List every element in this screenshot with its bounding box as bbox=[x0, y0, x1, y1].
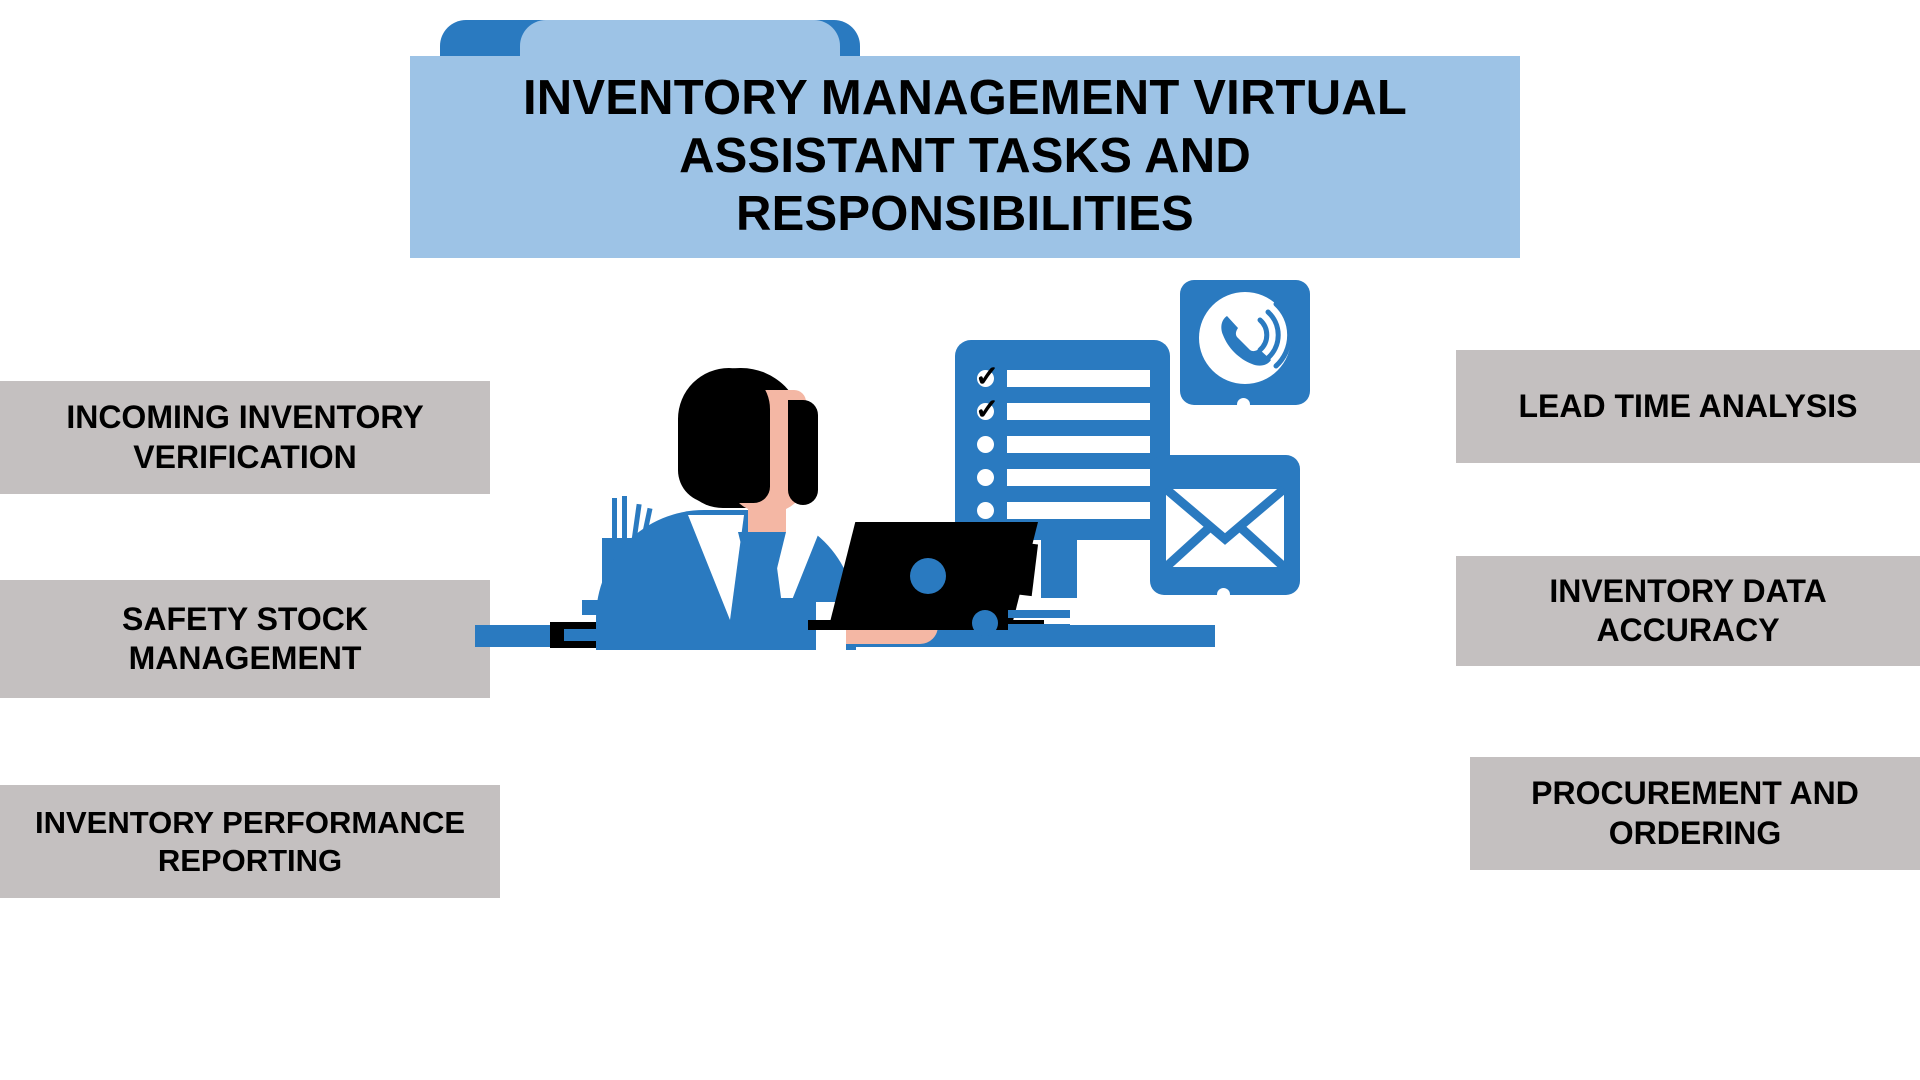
hair-side bbox=[788, 400, 818, 505]
label-inventory-data-accuracy[interactable]: INVENTORY DATA ACCURACY bbox=[1456, 556, 1920, 666]
document-avatar-dot-icon bbox=[972, 610, 998, 636]
envelope-icon bbox=[1150, 455, 1300, 595]
checklist-line bbox=[1007, 370, 1150, 387]
document-line bbox=[1008, 638, 1070, 646]
desk-item-black bbox=[994, 540, 1038, 596]
checklist-line bbox=[1007, 469, 1150, 486]
checklist-bullet-icon bbox=[977, 436, 994, 453]
checklist-line bbox=[1007, 436, 1150, 453]
desk-item-blue bbox=[1041, 532, 1077, 598]
document-line bbox=[1008, 610, 1070, 618]
card-pin-icon bbox=[1217, 588, 1230, 601]
blazer-lapel-left bbox=[688, 515, 744, 620]
label-procurement-and-ordering[interactable]: PROCUREMENT AND ORDERING bbox=[1470, 757, 1920, 870]
card-pin-icon bbox=[1237, 398, 1250, 411]
laptop-logo-dot-icon bbox=[910, 558, 946, 594]
checklist-bullet-icon bbox=[977, 469, 994, 486]
title-banner-body: INVENTORY MANAGEMENT VIRTUAL ASSISTANT T… bbox=[410, 56, 1520, 258]
pen-icon bbox=[612, 498, 617, 542]
mail-card-icon bbox=[1150, 455, 1300, 595]
label-lead-time-analysis[interactable]: LEAD TIME ANALYSIS bbox=[1456, 350, 1920, 463]
phone-card-icon bbox=[1180, 280, 1310, 405]
label-inventory-performance-reporting[interactable]: INVENTORY PERFORMANCE REPORTING bbox=[0, 785, 500, 898]
check-mark-icon: ✓ bbox=[975, 396, 999, 425]
infographic-canvas: INVENTORY MANAGEMENT VIRTUAL ASSISTANT T… bbox=[0, 0, 1920, 1080]
checklist-line bbox=[1007, 403, 1150, 420]
title-banner: INVENTORY MANAGEMENT VIRTUAL ASSISTANT T… bbox=[410, 20, 1520, 250]
document-line bbox=[1008, 624, 1070, 632]
pen-icon bbox=[622, 496, 627, 542]
check-mark-icon: ✓ bbox=[975, 363, 999, 392]
label-incoming-inventory-verification[interactable]: INCOMING INVENTORY VERIFICATION bbox=[0, 381, 490, 494]
checklist-card-icon: ✓ ✓ bbox=[955, 340, 1170, 540]
label-safety-stock-management[interactable]: SAFETY STOCK MANAGEMENT bbox=[0, 580, 490, 698]
checklist-line bbox=[1007, 502, 1150, 519]
phone-call-icon bbox=[1180, 280, 1310, 405]
page-title: INVENTORY MANAGEMENT VIRTUAL ASSISTANT T… bbox=[410, 56, 1520, 258]
hair-front bbox=[678, 368, 770, 503]
checklist-bullet-icon bbox=[977, 502, 994, 519]
central-illustration: ✓ ✓ bbox=[560, 280, 1380, 790]
